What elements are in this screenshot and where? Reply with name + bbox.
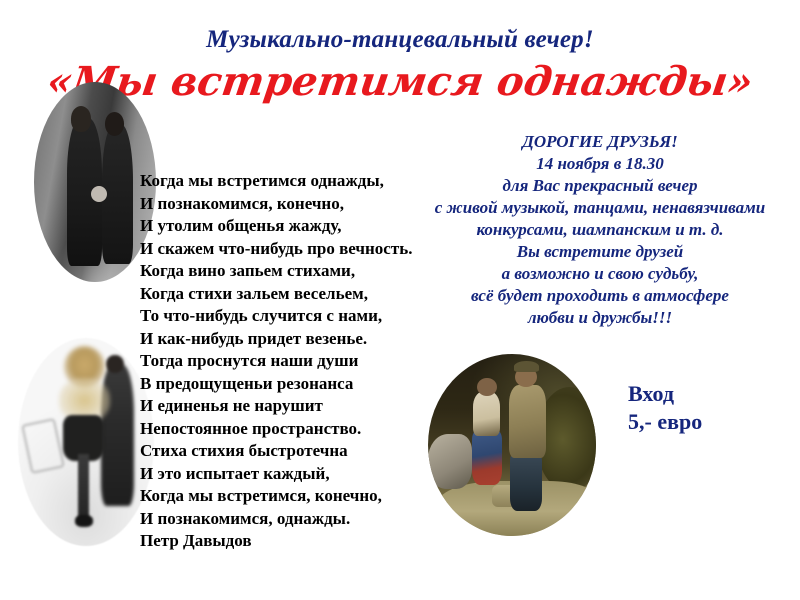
poem-line: Непостоянное пространство. <box>140 418 440 441</box>
couple-photo <box>34 82 156 282</box>
poem-line: И познакомимся, конечно, <box>140 193 440 216</box>
poem-line: И как-нибудь придет везенье. <box>140 328 440 351</box>
poem-line: И познакомимся, однажды. <box>140 508 440 531</box>
announcement-text: ДОРОГИЕ ДРУЗЬЯ! 14 ноября в 18.30 для Ва… <box>400 131 800 329</box>
photo-woman-head <box>105 112 125 136</box>
poem-line: И скажем что-нибудь про вечность. <box>140 238 440 261</box>
announcement-datetime: 14 ноября в 18.30 <box>400 153 800 175</box>
painting-woman-head <box>477 378 497 396</box>
painting-man-hat <box>514 361 539 372</box>
announcement-greeting: ДОРОГИЕ ДРУЗЬЯ! <box>400 131 800 153</box>
announcement-line: а возможно и свою судьбу, <box>400 263 800 285</box>
poem-line: В предощущеньи резонанса <box>140 373 440 396</box>
announcement-line: конкурсами, шампанским и т. д. <box>400 219 800 241</box>
entrance-amount: 5,- евро <box>628 408 702 436</box>
dancer-chair <box>21 418 65 474</box>
poem-line: И это испытает каждый, <box>140 463 440 486</box>
painting-woman-skirt <box>472 430 502 485</box>
announcement-line: всё будет проходить в атмосфере <box>400 285 800 307</box>
photo-man-head <box>71 106 92 132</box>
dancer-shoe <box>75 515 93 527</box>
announcement-line: с живой музыкой, танцами, ненавязчивами <box>400 197 800 219</box>
rustic-couple-painting <box>428 354 596 536</box>
poem-line: Когда мы встретимся, конечно, <box>140 485 440 508</box>
painting-man-coat <box>509 385 546 458</box>
poem-line: Тогда проснутся наши души <box>140 350 440 373</box>
entrance-label: Вход <box>628 380 702 408</box>
poem-line: То что-нибудь случится с нами, <box>140 305 440 328</box>
dancer-photo <box>18 338 154 546</box>
page-title: Музыкально-танцевальный вечер! <box>0 26 800 54</box>
poem-line: Когда стихи зальем весельем, <box>140 283 440 306</box>
dancer-leg <box>78 454 89 521</box>
announcement-line: любви и дружбы!!! <box>400 307 800 329</box>
poem-line: Когда вино запьем стихами, <box>140 260 440 283</box>
entrance-price: Вход 5,- евро <box>628 380 702 436</box>
poster-canvas: Музыкально-танцевальный вечер! «Мы встре… <box>0 0 800 600</box>
poem-line: И единенья не нарушит <box>140 395 440 418</box>
announcement-line: для Вас прекрасный вечер <box>400 175 800 197</box>
poem-text: Когда мы встретимся однажды, И познакоми… <box>140 170 440 553</box>
painting-woman-bodice <box>473 392 500 436</box>
poem-line: Стиха стихия быстротечна <box>140 440 440 463</box>
poem-author: Петр Давыдов <box>140 530 440 553</box>
announcement-line: Вы встретите друзей <box>400 241 800 263</box>
poem-line: Когда мы встретимся однажды, <box>140 170 440 193</box>
poem-line: И утолим общенья жажду, <box>140 215 440 238</box>
painting-man-legs <box>510 452 542 510</box>
